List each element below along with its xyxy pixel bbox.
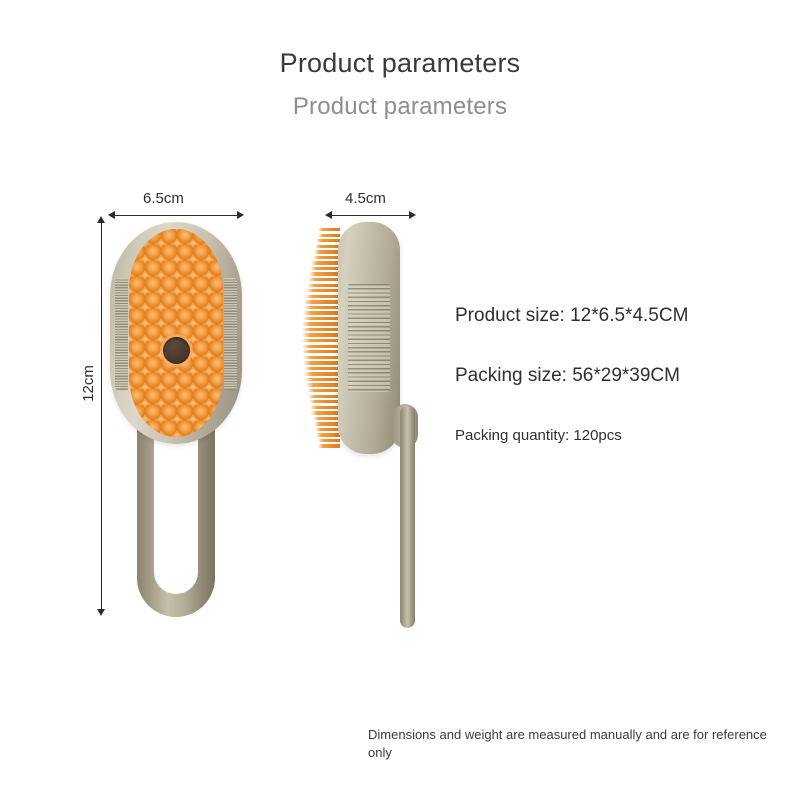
bristle [302,339,340,342]
bristle [309,400,340,403]
bristle [303,311,340,314]
bristle [302,333,340,336]
bristle [313,256,341,259]
disclaimer-note: Dimensions and weight are measured manua… [368,726,768,761]
bristle [316,239,340,242]
bristle [304,372,340,375]
bristle [304,306,340,309]
side-view-width-arrow [325,211,416,220]
bristle [302,345,340,348]
bristle [308,395,340,398]
bristle [313,417,341,420]
front-view-height-label: 12cm [80,365,97,402]
bristle [307,284,340,287]
arrow-head-down-icon [97,609,105,616]
spec-packing-quantity: Packing quantity: 120pcs [455,427,775,444]
bristle [309,272,340,275]
bristle [315,428,340,431]
bristle [305,295,340,298]
bristle [318,444,340,447]
bristle [318,234,340,237]
comb-teeth-right [224,278,237,390]
product-front-view [110,222,242,617]
arrow-bar [101,220,102,612]
front-view-handle [137,422,215,617]
bristle [314,250,340,253]
bristle [303,356,340,359]
bristle [302,322,340,325]
bristle [311,261,340,264]
product-parameters-page: Product parameters Product parameters 6.… [0,0,800,800]
side-view-brush-body [338,222,400,454]
bristle [318,439,340,442]
product-side-view [300,222,430,622]
arrow-head-right-icon [237,211,244,219]
bristle [315,245,340,248]
page-subtitle: Product parameters [0,93,800,121]
side-view-bristles [300,228,340,450]
arrow-bar [112,215,240,216]
front-view-width-label: 6.5cm [143,190,184,207]
comb-teeth-left [115,278,128,390]
spec-packing-size: Packing size: 56*29*39CM [455,365,775,387]
bristle [303,361,340,364]
bristle [304,300,340,303]
bristle [302,350,340,353]
side-view-width-label: 4.5cm [345,190,386,207]
front-view-height-arrow [97,216,106,616]
bristle [303,317,340,320]
nub-texture [129,229,223,437]
silicone-nub-pad [129,229,223,437]
arrow-head-right-icon [409,211,416,219]
page-title: Product parameters [0,48,800,79]
center-hole [163,337,190,364]
arrow-bar [329,215,412,216]
bristle [314,422,340,425]
bristle [310,406,340,409]
side-view-handle [400,406,415,628]
handle-inner-cutout [154,422,198,594]
bristle [307,389,340,392]
bristle [311,411,340,414]
bristle [302,328,340,331]
bristle [310,267,340,270]
bristle [308,278,340,281]
bristle [318,228,340,231]
comb-ridges [348,284,390,392]
bristle [316,433,340,436]
specification-list: Product size: 12*6.5*4.5CM Packing size:… [455,305,775,444]
bristle [304,367,340,370]
bristle [305,378,340,381]
bristle [306,383,340,386]
spec-product-size: Product size: 12*6.5*4.5CM [455,305,775,327]
bristle [306,289,340,292]
front-view-brush-head [110,222,242,444]
front-view-width-arrow [108,211,244,220]
